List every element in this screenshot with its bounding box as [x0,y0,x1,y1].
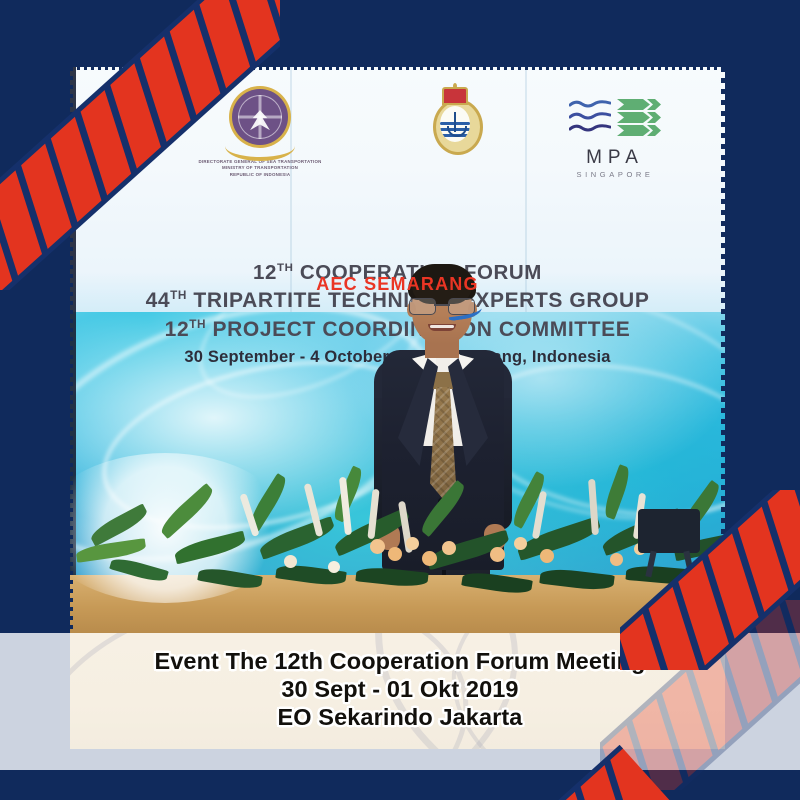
mpa-arrow [617,110,661,120]
mpa-arrow [617,123,661,133]
flower [540,549,554,563]
mpa-wave [569,100,611,107]
flower [422,551,437,566]
mpa-subtitle: SINGAPORE [540,170,690,179]
flower [284,555,297,568]
mouth [428,324,456,331]
flower [442,541,456,555]
crest-shield [440,106,470,142]
mpa-wave [569,124,611,131]
flower [406,537,419,550]
mpa-mark-icon [569,95,661,143]
flower [514,537,527,550]
rope-decoration-top-left [0,0,280,290]
mpa-arrow [617,97,661,107]
rope-decoration-bottom-right-tail [520,745,720,800]
headline-3-number: 12 [165,318,190,341]
poster-canvas: DIRECTORATE GENERAL OF SEA TRANSPORTATIO… [0,0,800,800]
blue-scribble-mark [447,302,483,322]
rope-decoration-bottom-right-upper [620,490,800,670]
left-lens [409,298,436,315]
crown-icon [442,87,468,105]
flower [388,547,402,561]
mpa-title: MPA [540,147,690,169]
leaf [417,480,468,537]
flower [370,539,385,554]
leaf [515,516,603,561]
flower [490,547,505,562]
headline-3-ordinal: TH [189,318,206,331]
marine-department-crest [380,87,530,153]
anchor-icon [454,112,456,132]
mpa-singapore-logo: MPA SINGAPORE [540,95,690,179]
mpa-wave [569,112,611,119]
flower [328,561,340,573]
crest-icon [429,87,481,153]
